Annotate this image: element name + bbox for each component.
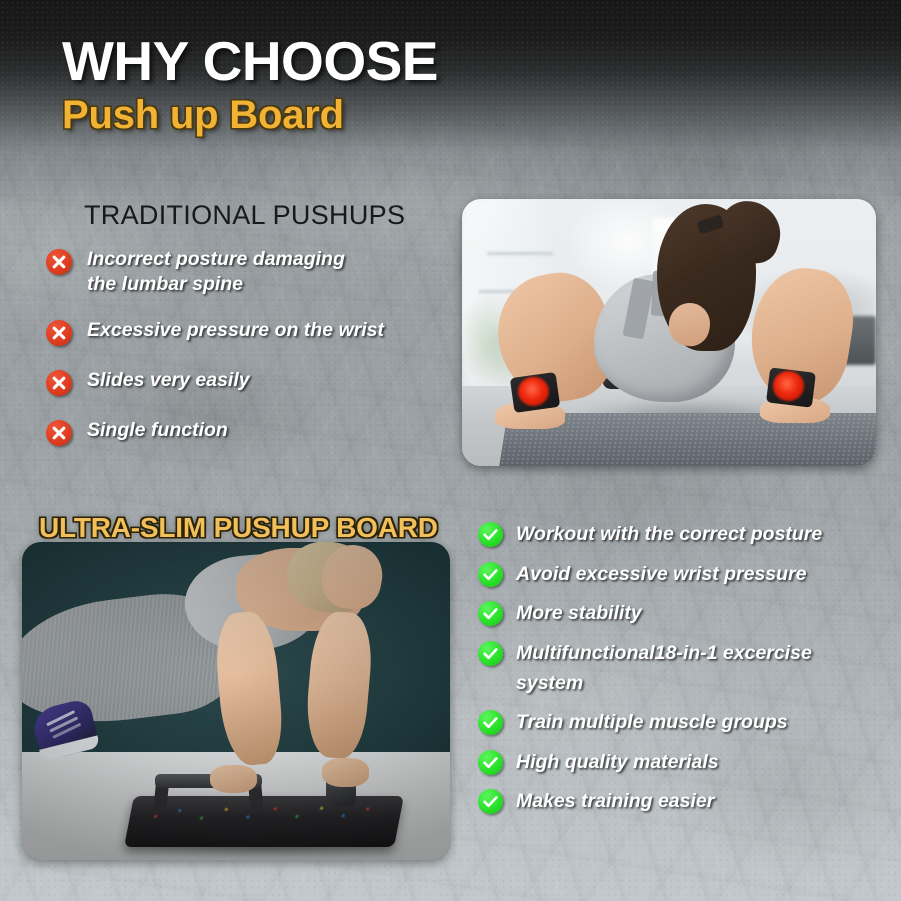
check-circle-icon xyxy=(478,789,503,814)
check-circle-icon xyxy=(478,710,503,735)
traditional-section-heading: TRADITIONAL PUSHUPS xyxy=(84,200,405,231)
list-item-label: Train multiple muscle groups xyxy=(516,708,788,738)
list-item-label: High quality materials xyxy=(516,748,719,778)
list-item-label: Workout with the correct posture xyxy=(516,520,822,550)
page-subtitle: Push up Board xyxy=(62,95,438,135)
list-item: Excessive pressure on the wrist xyxy=(46,318,446,346)
pushup-board-photo xyxy=(22,542,450,860)
board-pros-list: Workout with the correct posture Avoid e… xyxy=(478,520,890,817)
list-item-label: Avoid excessive wrist pressure xyxy=(516,560,807,590)
check-circle-icon xyxy=(478,750,503,775)
list-item: Train multiple muscle groups xyxy=(478,708,890,738)
list-item-label: More stability xyxy=(516,599,642,629)
list-item-label: Incorrect posture damaging the lumbar sp… xyxy=(87,247,345,296)
list-item: Incorrect posture damaging the lumbar sp… xyxy=(46,247,446,296)
wrist-pain-indicator-right xyxy=(773,371,804,400)
page-title: WHY CHOOSE xyxy=(62,34,438,89)
list-item-label: Excessive pressure on the wrist xyxy=(87,318,384,343)
x-circle-icon xyxy=(46,420,72,446)
check-circle-icon xyxy=(478,562,503,587)
list-item: Multifunctional18-in-1 excercise system xyxy=(478,639,890,698)
poster-header: WHY CHOOSE Push up Board xyxy=(62,34,438,135)
list-item-label: Multifunctional18-in-1 excercise system xyxy=(516,639,812,698)
list-item: Avoid excessive wrist pressure xyxy=(478,560,890,590)
traditional-cons-list: Incorrect posture damaging the lumbar sp… xyxy=(46,247,446,446)
x-circle-icon xyxy=(46,249,72,275)
list-item: High quality materials xyxy=(478,748,890,778)
list-item: Workout with the correct posture xyxy=(478,520,890,550)
list-item-label: Single function xyxy=(87,418,228,443)
check-circle-icon xyxy=(478,601,503,626)
x-circle-icon xyxy=(46,320,72,346)
traditional-pushup-photo xyxy=(462,199,876,466)
list-item: Makes training easier xyxy=(478,787,890,817)
check-circle-icon xyxy=(478,641,503,666)
list-item-label: Makes training easier xyxy=(516,787,714,817)
list-item: Single function xyxy=(46,418,446,446)
x-circle-icon xyxy=(46,370,72,396)
list-item-label: Slides very easily xyxy=(87,368,250,393)
infographic-poster: WHY CHOOSE Push up Board TRADITIONAL PUS… xyxy=(0,0,901,901)
check-circle-icon xyxy=(478,522,503,547)
board-section-heading: ULTRA-SLIM PUSHUP BOARD xyxy=(39,512,438,544)
list-item: Slides very easily xyxy=(46,368,446,396)
list-item: More stability xyxy=(478,599,890,629)
wrist-pain-indicator-left xyxy=(518,377,549,406)
